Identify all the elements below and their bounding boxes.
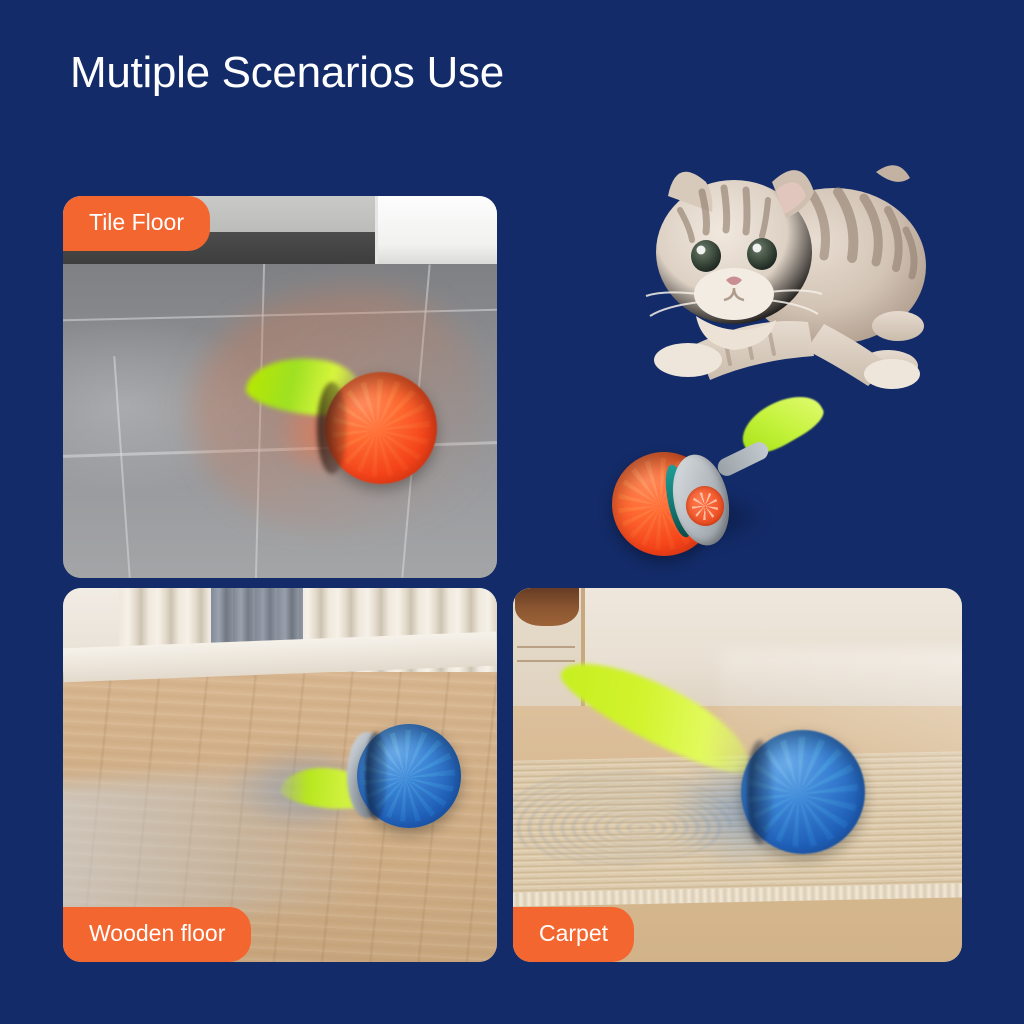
scenario-panel-wooden[interactable]: Wooden floor [63,588,497,962]
product-feature-graphic: Mutiple Scenarios Use Ti [0,0,1024,1024]
kitten-paw-front-right [864,359,920,389]
toy-ball-blue-carpet [633,696,873,876]
carpet-photo [513,588,962,962]
eye-highlight [753,244,762,253]
scenario-badge-carpet[interactable]: Carpet [513,907,634,962]
furniture-line [517,660,575,662]
ball-dark-ring [747,740,773,844]
kitten-eye-left [691,240,721,272]
scenario-badge-label: Tile Floor [89,211,184,234]
wooden-floor-photo [63,588,497,962]
scenario-badge-label: Wooden floor [89,922,225,945]
ball-dark-ring [317,382,347,474]
kitten-eye-right [747,238,777,270]
scenario-badge-tile[interactable]: Tile Floor [63,196,210,251]
hero-product-ball [606,398,820,566]
wooden-bowl [515,588,579,626]
ball-dark-ring [365,732,387,820]
furniture-line [517,646,575,648]
kitten-paw-front-left [654,343,722,377]
scenario-panel-tile[interactable]: Tile Floor [63,196,497,578]
eye-highlight [697,246,706,255]
tile-white-cabinet [375,196,497,266]
scenario-panel-carpet[interactable]: Carpet [513,588,962,962]
feather-stem [715,439,771,479]
scenario-badge-label: Carpet [539,922,608,945]
page-title: Mutiple Scenarios Use [70,48,504,99]
toy-ball-blue-wood [281,720,461,840]
kitten-paw-back-right [872,311,924,341]
kitten-tail [876,165,910,182]
kitten-photo [576,148,976,410]
scenario-badge-wooden[interactable]: Wooden floor [63,907,251,962]
tile-floor-photo [63,196,497,578]
toy-ball-orange-tile [309,358,441,490]
